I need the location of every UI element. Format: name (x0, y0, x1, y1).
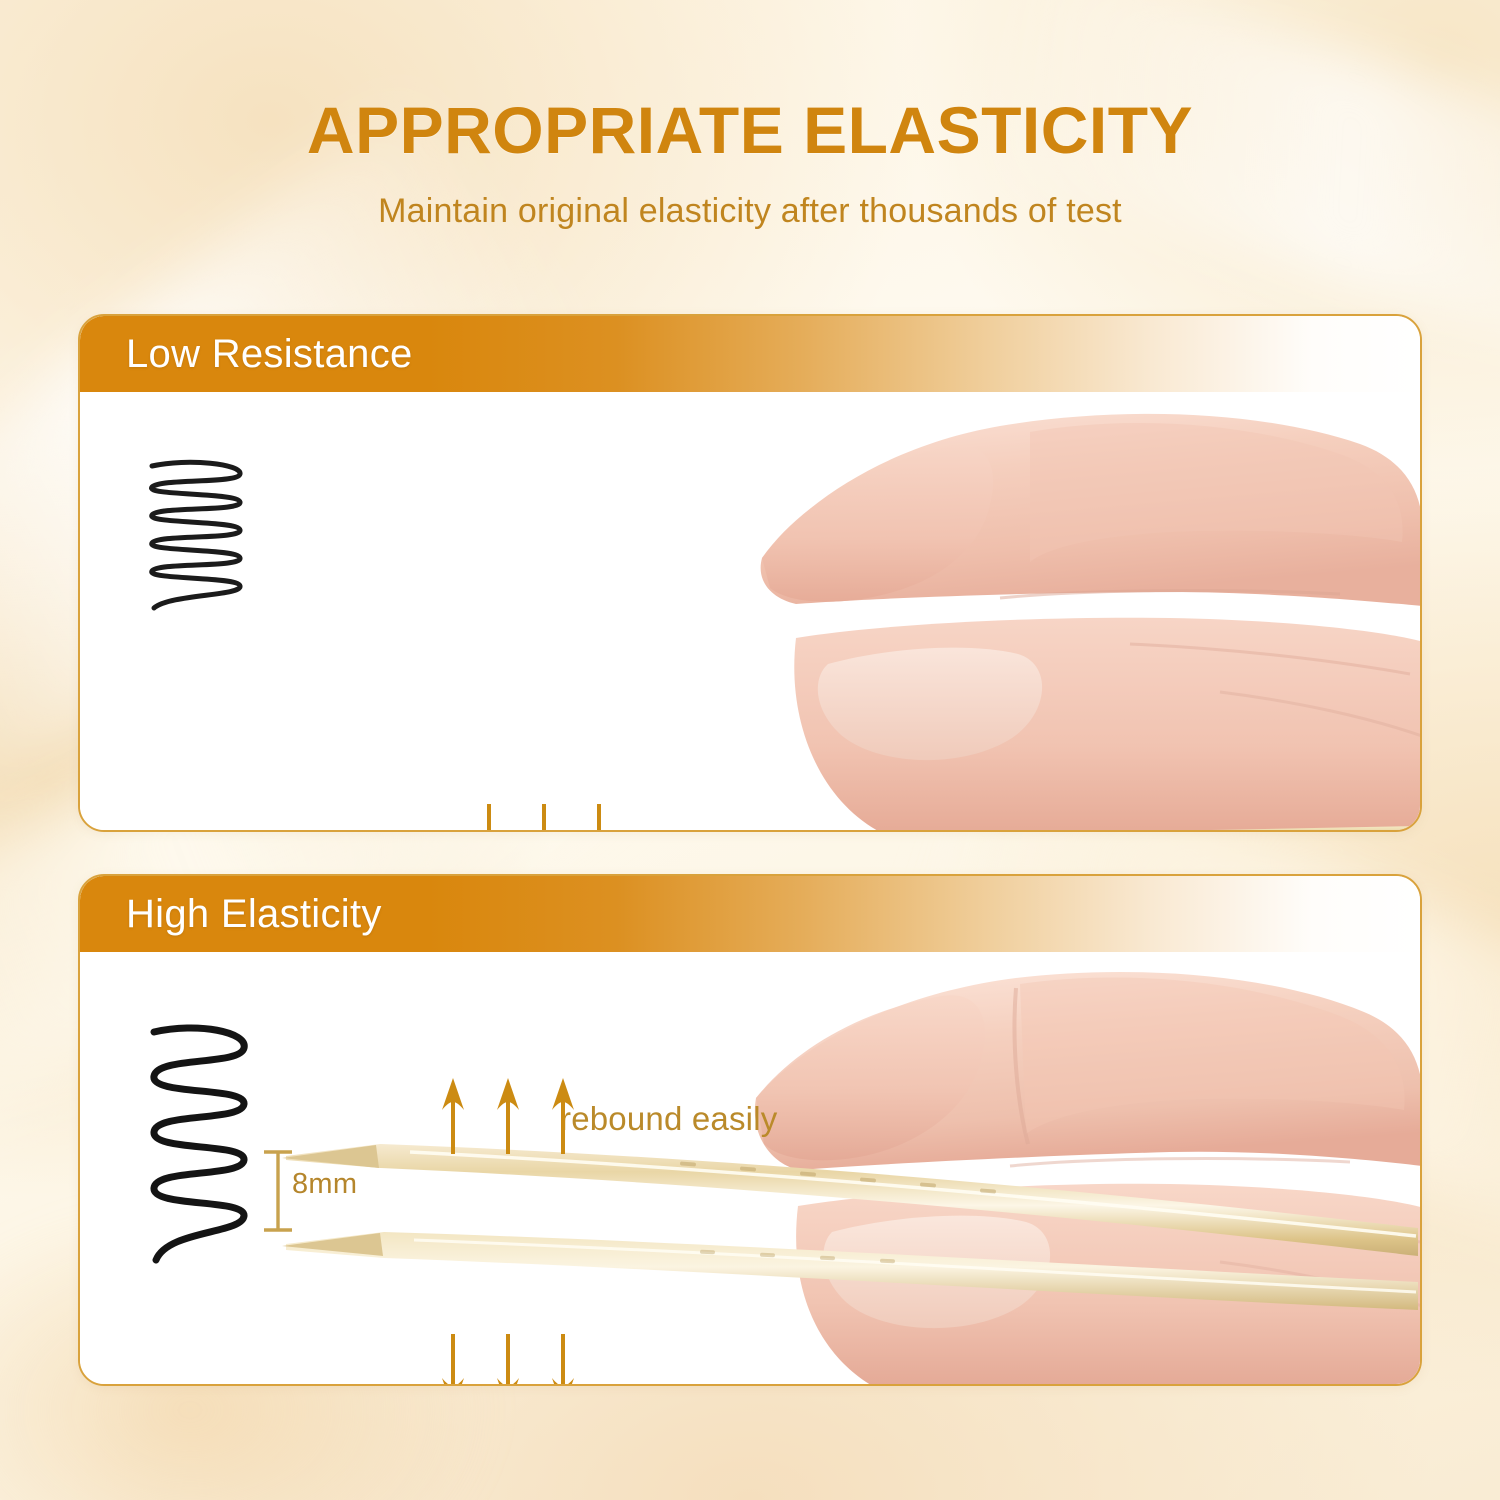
header: APPROPRIATE ELASTICITY Maintain original… (0, 96, 1500, 231)
panel-body-high-elasticity: 8mm rebound easily (80, 952, 1420, 1384)
arrow-down-icon (586, 804, 612, 832)
panel-body-low-resistance (80, 392, 1420, 830)
page-title: APPROPRIATE ELASTICITY (0, 96, 1500, 166)
arrows-down-group (476, 804, 612, 832)
arrows-down-group (440, 1334, 576, 1386)
page-subtitle: Maintain original elasticity after thous… (0, 192, 1500, 231)
panel-header-high-elasticity: High Elasticity (80, 876, 1420, 952)
arrows-up-group (440, 1076, 576, 1154)
panel-low-resistance: Low Resistance (78, 314, 1422, 832)
tweezers-closed (270, 816, 1420, 832)
panel-label: Low Resistance (126, 332, 413, 377)
hand-holding-tweezers (700, 392, 1422, 832)
arrow-down-icon (531, 804, 557, 832)
arrow-up-icon (495, 1076, 521, 1154)
measurement-8mm: 8mm (258, 1146, 458, 1236)
compressed-spring-icon (130, 456, 262, 622)
panel-high-elasticity: High Elasticity (78, 874, 1422, 1386)
arrow-down-icon (495, 1334, 521, 1386)
arrow-up-icon (550, 1076, 576, 1154)
arrow-up-icon (440, 1076, 466, 1154)
arrow-down-icon (440, 1334, 466, 1386)
panel-header-low-resistance: Low Resistance (80, 316, 1420, 392)
measurement-label: 8mm (292, 1168, 357, 1201)
arrow-down-icon (476, 804, 502, 832)
rebound-caption: rebound easily (560, 1100, 777, 1138)
panel-label: High Elasticity (126, 892, 382, 937)
expanded-spring-icon (128, 1022, 268, 1272)
arrow-down-icon (550, 1334, 576, 1386)
